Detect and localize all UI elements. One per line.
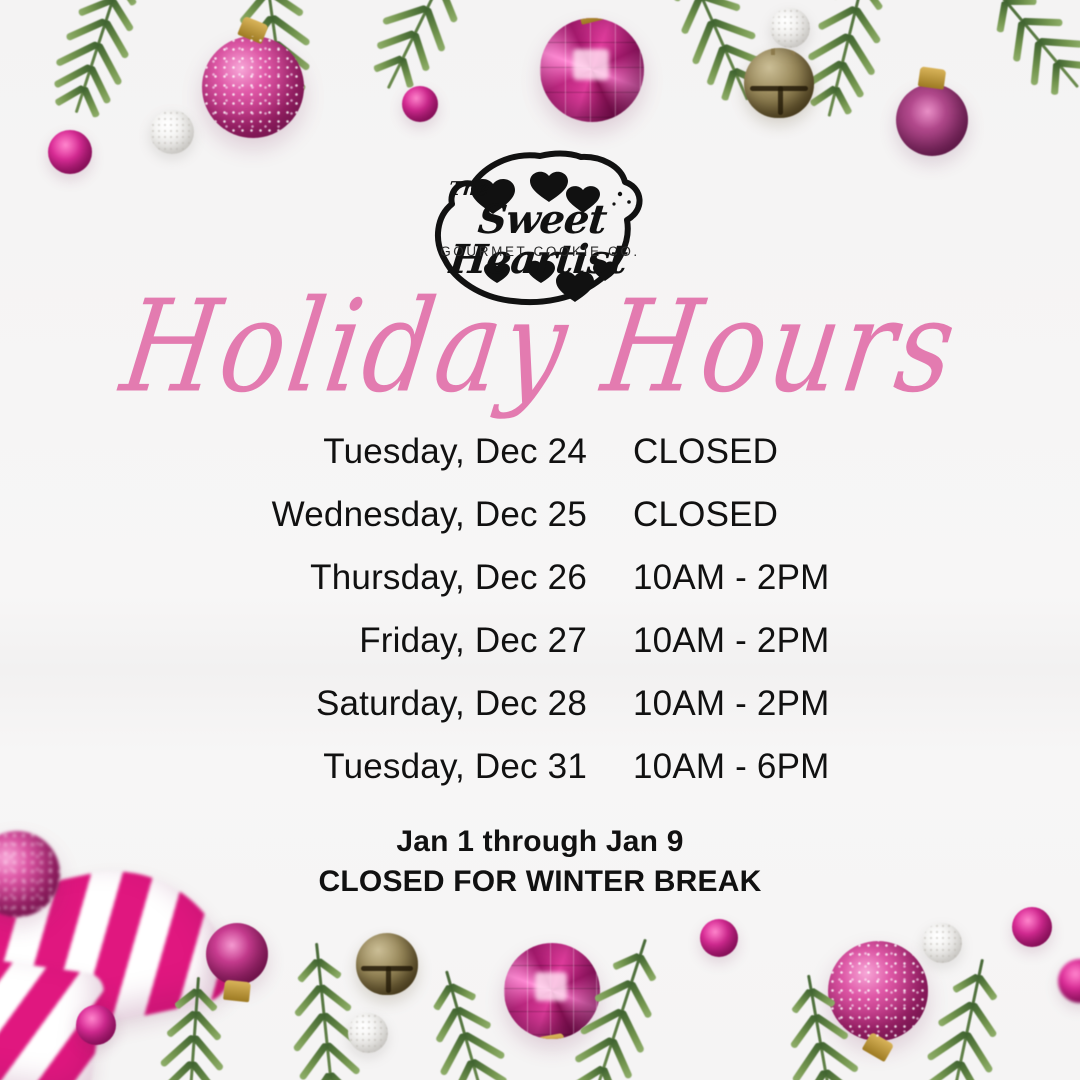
small-matte-ball-magenta-icon <box>402 86 438 122</box>
fir-sprig-icon <box>655 0 775 112</box>
winter-break-notice: Jan 1 through Jan 9 CLOSED FOR WINTER BR… <box>0 822 1080 901</box>
logo-tagline: GOURMET COOKIE CO. <box>415 244 665 259</box>
hours-time-value: 10AM - 2PM <box>633 621 830 661</box>
winter-break-dates: Jan 1 through Jan 9 <box>0 822 1080 862</box>
fir-sprig-icon <box>232 0 314 111</box>
fir-sprig-icon <box>286 940 362 1080</box>
small-matte-ball-magenta-icon <box>76 1005 116 1045</box>
hours-time-value: 10AM - 2PM <box>633 558 830 598</box>
small-matte-ball-magenta-icon <box>700 919 738 957</box>
fir-sprig-icon <box>799 0 895 124</box>
fir-sprig-icon <box>973 0 1080 106</box>
fir-sprig-icon <box>160 975 226 1080</box>
holiday-hours-list: Tuesday, Dec 24 CLOSED Wednesday, Dec 25… <box>0 432 1080 810</box>
snowball-white-icon <box>770 8 810 48</box>
snowball-white-icon <box>150 110 194 154</box>
hours-time-value: CLOSED <box>633 495 778 535</box>
hours-day-label: Tuesday, Dec 31 <box>0 747 587 787</box>
hours-day-label: Tuesday, Dec 24 <box>0 432 587 472</box>
matte-ball-plum-icon <box>896 84 968 156</box>
candy-ribbon-swirl-icon <box>0 90 40 280</box>
hours-row: Friday, Dec 27 10AM - 2PM <box>0 621 1080 684</box>
hours-day-label: Saturday, Dec 28 <box>0 684 587 724</box>
hours-row: Saturday, Dec 28 10AM - 2PM <box>0 684 1080 747</box>
hours-day-label: Thursday, Dec 26 <box>0 558 587 598</box>
logo-brand-name: Sweet Heartist <box>411 200 669 280</box>
snowball-white-icon <box>922 923 962 963</box>
candy-ribbon-swirl-icon <box>0 10 92 220</box>
fir-sprig-icon <box>361 0 487 101</box>
glitter-ball-magenta-icon <box>828 941 928 1041</box>
jingle-bell-bronze-icon <box>356 933 418 995</box>
hours-day-label: Wednesday, Dec 25 <box>0 495 587 535</box>
fir-sprig-icon <box>47 0 150 122</box>
glitter-ball-magenta-icon <box>202 36 304 138</box>
page-title: Holiday Hours <box>0 284 1080 411</box>
hours-row: Wednesday, Dec 25 CLOSED <box>0 495 1080 558</box>
hours-time-value: CLOSED <box>633 432 778 472</box>
small-matte-ball-magenta-icon <box>1058 959 1080 1003</box>
small-matte-ball-magenta-icon <box>48 130 92 174</box>
hours-day-label: Friday, Dec 27 <box>0 621 587 661</box>
holiday-hours-graphic: The Sweet Heartist GOURMET COOKIE CO. Ho… <box>0 0 1080 1080</box>
fir-sprig-icon <box>780 970 859 1080</box>
fir-sprig-icon <box>921 953 1011 1080</box>
fir-sprig-icon <box>565 929 675 1080</box>
matte-ball-magenta-icon <box>206 923 268 985</box>
faceted-ball-magenta-icon <box>504 943 600 1039</box>
faceted-ball-magenta-icon <box>540 18 644 122</box>
bottom-decor-band <box>0 885 1080 1080</box>
small-matte-ball-magenta-icon <box>1012 907 1052 947</box>
fir-sprig-icon <box>419 963 511 1080</box>
candy-cane-striped-icon <box>0 944 106 1080</box>
candy-ribbon-swirl-icon <box>1000 96 1080 276</box>
winter-break-status: CLOSED FOR WINTER BREAK <box>0 862 1080 902</box>
snowball-white-icon <box>348 1013 388 1053</box>
candy-ribbon-swirl-icon <box>968 0 1080 200</box>
hours-row: Tuesday, Dec 31 10AM - 6PM <box>0 747 1080 810</box>
hours-time-value: 10AM - 2PM <box>633 684 830 724</box>
hours-time-value: 10AM - 6PM <box>633 747 830 787</box>
jingle-bell-bronze-icon <box>744 48 814 118</box>
hours-row: Tuesday, Dec 24 CLOSED <box>0 432 1080 495</box>
hours-row: Thursday, Dec 26 10AM - 2PM <box>0 558 1080 621</box>
